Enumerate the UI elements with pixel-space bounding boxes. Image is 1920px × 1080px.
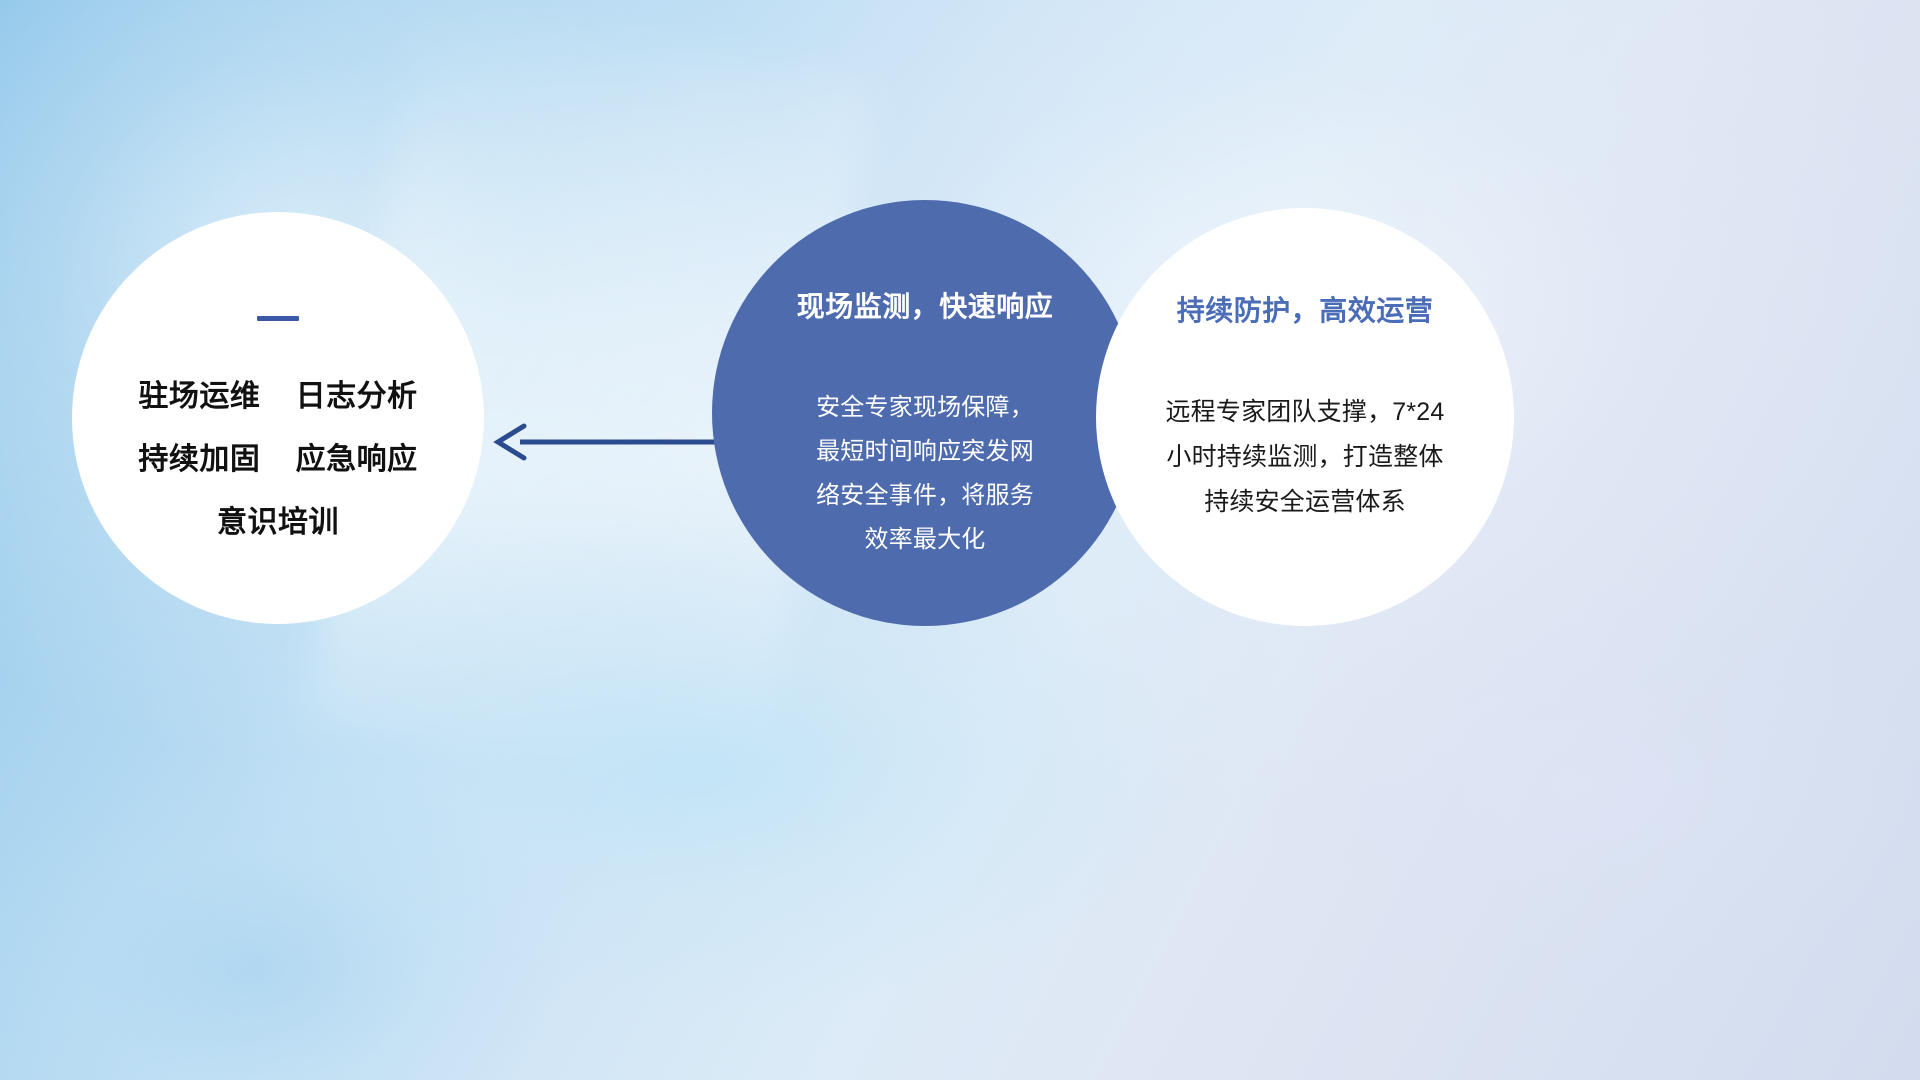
continuous-protection-title: 持续防护，高效运营 [1177, 294, 1434, 328]
protection-body-line-1: 远程专家团队支撑，7*24 [1129, 390, 1481, 435]
onsite-body-line-3: 络安全事件，将服务 [782, 474, 1068, 518]
background-glow-lower-right [1130, 560, 1920, 1080]
capabilities-circle[interactable]: 驻场运维 日志分析 持续加固 应急响应 意识培训 [72, 212, 484, 624]
continuous-protection-circle[interactable]: 持续防护，高效运营 远程专家团队支撑，7*24 小时持续监测，打造整体 持续安全… [1096, 208, 1514, 626]
onsite-monitoring-title: 现场监测，快速响应 [797, 290, 1054, 324]
background-glow-lower-left [0, 760, 640, 1080]
onsite-body-line-2: 最短时间响应突发网 [782, 430, 1068, 474]
onsite-body-line-4: 效率最大化 [782, 518, 1068, 562]
capabilities-line-3: 意识培训 [138, 491, 417, 554]
onsite-monitoring-circle[interactable]: 现场监测，快速响应 安全专家现场保障， 最短时间响应突发网 络安全事件，将服务 … [712, 200, 1138, 626]
slide-canvas: 驻场运维 日志分析 持续加固 应急响应 意识培训 现场监测，快速响应 安全专家现… [0, 0, 1920, 1080]
capabilities-line-2: 持续加固 应急响应 [138, 428, 417, 491]
protection-body-line-2: 小时持续监测，打造整体 [1129, 435, 1481, 480]
onsite-monitoring-body: 安全专家现场保障， 最短时间响应突发网 络安全事件，将服务 效率最大化 [782, 386, 1068, 562]
capabilities-keyword-list: 驻场运维 日志分析 持续加固 应急响应 意识培训 [138, 365, 417, 554]
capabilities-line-1: 驻场运维 日志分析 [138, 365, 417, 428]
continuous-protection-body: 远程专家团队支撑，7*24 小时持续监测，打造整体 持续安全运营体系 [1129, 390, 1481, 525]
onsite-body-line-1: 安全专家现场保障， [782, 386, 1068, 430]
protection-body-line-3: 持续安全运营体系 [1129, 480, 1481, 525]
arrow-left-icon [480, 412, 720, 472]
horizontal-dash-icon [257, 316, 299, 321]
